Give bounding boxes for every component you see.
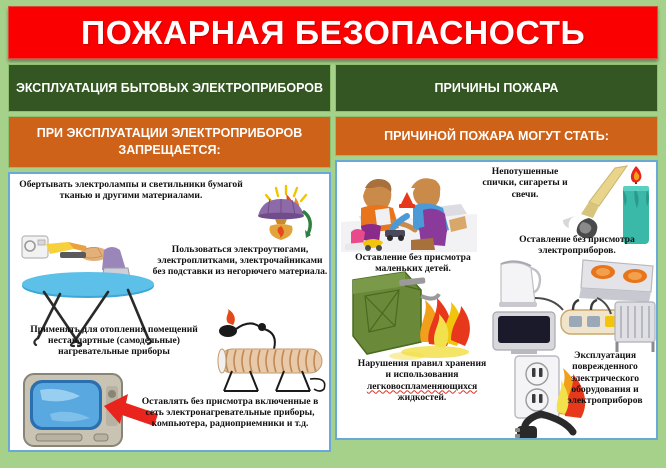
right-caption-4-line3: легковоспламеняющихся	[339, 381, 505, 392]
left-section-subheader: ПРИ ЭКСПЛУАТАЦИИ ЭЛЕКТРОПРИБОРОВ ЗАПРЕЩА…	[8, 116, 331, 168]
left-section-header: ЭКСПЛУАТАЦИЯ БЫТОВЫХ ЭЛЕКТРОПРИБОРОВ	[8, 64, 331, 112]
right-caption-4: Нарушения правил хранения и использовани…	[339, 358, 505, 403]
right-caption-4-line1: Нарушения правил хранения	[339, 358, 505, 369]
right-caption-4-line4: жидкостей.	[339, 392, 505, 403]
right-caption-5: Эксплуатация поврежденного электрическог…	[553, 350, 657, 407]
right-section-header: ПРИЧИНЫ ПОЖАРА	[335, 64, 658, 112]
right-caption-3: Оставление без присмотра электроприборов…	[497, 234, 657, 257]
children-playing-icon	[341, 166, 477, 252]
title-banner: ПОЖАРНАЯ БЕЗОПАСНОСТЬ	[8, 6, 658, 59]
burning-lamp-icon	[248, 178, 326, 250]
left-caption-4: Оставлять без присмотра включенные в сет…	[132, 396, 328, 430]
right-content-panel: Оставление без присмотра маленьких детей…	[335, 160, 658, 440]
columns-container: ЭКСПЛУАТАЦИЯ БЫТОВЫХ ЭЛЕКТРОПРИБОРОВ ПРИ…	[8, 64, 658, 452]
appliances-icon	[487, 258, 658, 354]
left-caption-3: Применять для отопления помещений нестан…	[14, 324, 214, 358]
left-caption-2: Пользоваться электроутюгами, электроплит…	[150, 244, 330, 278]
bottom-strip	[8, 452, 658, 468]
left-caption-1: Обертывать электролампы и светильники бу…	[16, 179, 246, 202]
right-caption-4-line2: и использования	[339, 369, 505, 380]
right-section-subheader: ПРИЧИНОЙ ПОЖАРА МОГУТ СТАТЬ:	[335, 116, 658, 156]
fire-safety-poster: ПОЖАРНАЯ БЕЗОПАСНОСТЬ ЭКСПЛУАТАЦИЯ БЫТОВ…	[0, 0, 666, 458]
right-column: ПРИЧИНЫ ПОЖАРА ПРИЧИНОЙ ПОЖАРА МОГУТ СТА…	[335, 64, 658, 452]
left-content-panel: Обертывать электролампы и светильники бу…	[8, 172, 331, 452]
homemade-heater-icon	[206, 309, 331, 395]
burning-canister-icon	[343, 266, 493, 366]
page-title: ПОЖАРНАЯ БЕЗОПАСНОСТЬ	[81, 14, 585, 52]
left-column: ЭКСПЛУАТАЦИЯ БЫТОВЫХ ЭЛЕКТРОПРИБОРОВ ПРИ…	[8, 64, 331, 452]
